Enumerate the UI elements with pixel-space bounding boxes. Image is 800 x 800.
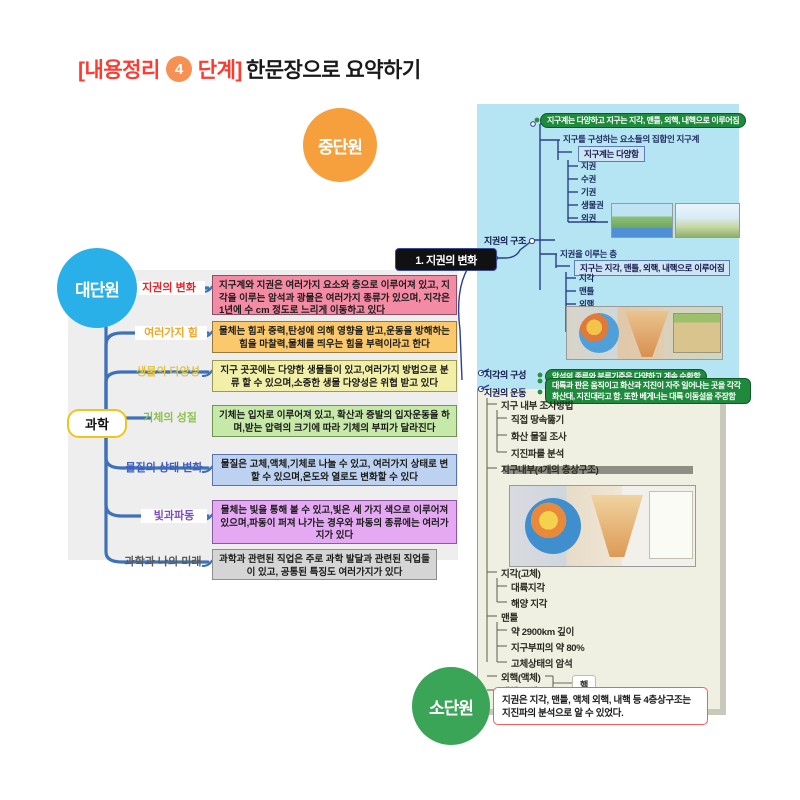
branch-label-0[interactable]: 지권의 변화	[133, 281, 205, 295]
cream-tree-item-6[interactable]: 대륙지각	[511, 580, 545, 594]
branch-label-3[interactable]: 기체의 성질	[133, 411, 207, 425]
earth-interior-diagram	[566, 306, 723, 360]
blue-layer-item-1[interactable]: 맨틀	[579, 285, 594, 297]
branch-label-1[interactable]: 여러가지 힘	[135, 326, 207, 340]
cream-tree-item-8[interactable]: 맨틀	[501, 610, 518, 624]
blue-branch-label[interactable]: 지권의 구조	[484, 234, 526, 247]
cream-tree-item-5[interactable]: 지각(고체)	[501, 566, 541, 580]
branch-label-6[interactable]: 과학과 나의 미래	[118, 555, 208, 569]
badge-daedanwon: 대단원	[57, 248, 137, 328]
cream-tree-item-10[interactable]: 지구부피의 약 80%	[511, 640, 584, 654]
branch-bubble-6[interactable]: 과학과 관련된 직업은 주로 과학 발달과 관련된 직업들이 있고, 공통된 특…	[212, 549, 437, 580]
blue-row-label-0[interactable]: 지각의 구성	[484, 368, 526, 381]
blue-section2-title[interactable]: 지권을 이루는 층	[560, 248, 617, 260]
globe-icon	[579, 313, 619, 353]
blue-section2-boxed[interactable]: 지구는 지각, 맨틀, 외핵, 내핵으로 이루어짐	[574, 260, 730, 276]
blue-sphere-item-4[interactable]: 외권	[581, 212, 596, 224]
branch-label-2[interactable]: 생물의 다양성	[128, 365, 208, 379]
summary-box[interactable]: 지권은 지각, 맨틀, 액체 외핵, 내핵 등 4층상구조는 지진파의 분석으로…	[493, 687, 708, 725]
branch-bubble-4[interactable]: 물질은 고체,액체,기체로 나눌 수 있고, 여러가지 상태로 변할 수 있으며…	[212, 454, 457, 486]
branch-bubble-3[interactable]: 기체는 입자로 이루어져 있고, 확산과 증발의 입자운동을 하며,받는 압력의…	[212, 405, 457, 437]
blue-sphere-item-3[interactable]: 생물권	[581, 199, 604, 211]
terrain-block-shape	[673, 313, 721, 353]
blue-sphere-item-1[interactable]: 수권	[581, 173, 596, 185]
cream-tree-item-0[interactable]: 지구 내부 조사방법	[501, 398, 573, 412]
blue-sphere-item-2[interactable]: 기권	[581, 186, 596, 198]
badge-jungdanwon: 중단원	[303, 108, 377, 182]
branch-bubble-1[interactable]: 물체는 힘과 중력,탄성에 의해 영향을 받고,운동을 방해하는 힘을 마찰력,…	[212, 321, 457, 353]
cream-tree-item-12[interactable]: 외핵(액체)	[501, 670, 541, 684]
blue-row-green-1[interactable]: 대륙과 판은 움직이고 화산과 지진이 자주 일어나는 곳을 각각 화산대, 지…	[545, 378, 751, 404]
blue-layer-item-0[interactable]: 지각	[579, 272, 594, 284]
branch-bubble-2[interactable]: 지구 곳곳에는 다양한 생물들이 있고,여러가지 방법으로 분류 할 수 있으며…	[212, 360, 457, 392]
mindmap-core-node[interactable]: 과학	[67, 409, 127, 438]
cream-tree-item-2[interactable]: 화산 물질 조사	[511, 429, 566, 443]
wedge-shape-2	[591, 495, 643, 557]
cream-tree-item-9[interactable]: 약 2900km 깊이	[511, 624, 574, 638]
cream-tree-item-7[interactable]: 해양 지각	[511, 596, 547, 610]
water-cycle-photo	[675, 203, 740, 238]
cream-tree-item-3[interactable]: 지진파를 분석	[511, 446, 564, 460]
cream-tree-item-11[interactable]: 고체상태의 암석	[511, 656, 572, 670]
cream-tree-item-4[interactable]: 지구내부(4개의 층상구조)	[501, 462, 598, 476]
blue-summary-top[interactable]: 지구계는 다양하고 지구는 지각, 맨틀, 외핵, 내핵으로 이루어짐	[540, 113, 746, 128]
blue-panel-header[interactable]: 1. 지권의 변화	[395, 248, 497, 271]
blue-sphere-item-0[interactable]: 지권	[581, 160, 596, 172]
earth-system-photo	[611, 203, 673, 238]
badge-sodanwon: 소단원	[412, 667, 490, 745]
globe-cutaway-icon	[525, 498, 581, 554]
wedge-shape	[625, 311, 669, 357]
branch-label-5[interactable]: 빛과파동	[141, 509, 207, 523]
branch-bubble-0[interactable]: 지구계와 지권은 여러가지 요소와 층으로 이루어져 있고, 지각을 이루는 암…	[212, 275, 457, 315]
branch-label-4[interactable]: 물질의 상태 변화	[120, 461, 208, 475]
cream-tree-item-1[interactable]: 직접 땅속뚫기	[511, 412, 564, 426]
branch-bubble-5[interactable]: 물체는 빛을 통해 볼 수 있고,빛은 세 가지 색으로 이루어져 있으며,파동…	[212, 500, 457, 544]
earth-layers-figure	[509, 485, 696, 567]
blue-section1-title[interactable]: 지구를 구성하는 요소들의 집합인 지구계	[563, 133, 699, 145]
figure-legend	[649, 491, 693, 559]
